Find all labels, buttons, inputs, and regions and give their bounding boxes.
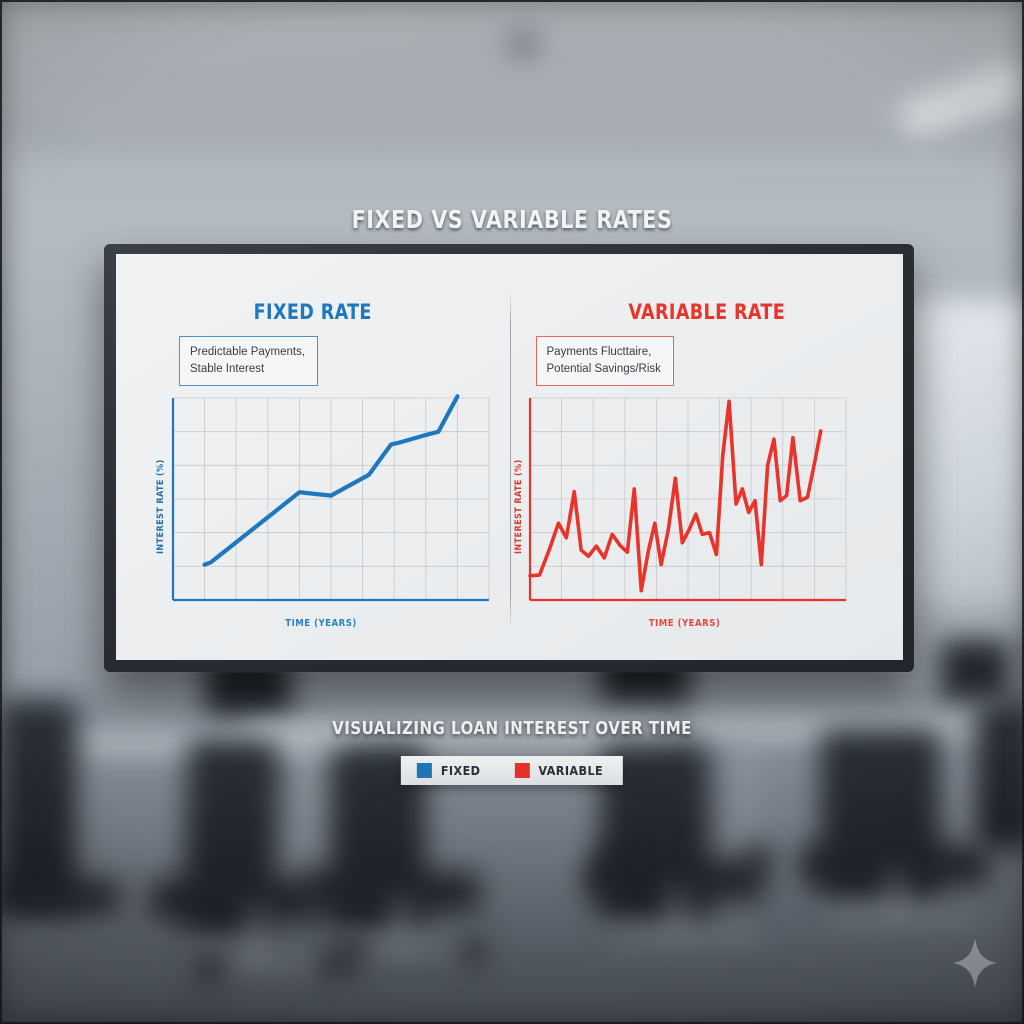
screenshot-root: FIXED VS VARIABLE RATES FIXED RATE Predi… <box>0 0 1024 1024</box>
window-mullion <box>920 300 926 630</box>
slide-panel: FIXED RATE Predictable Payments, Stable … <box>116 254 903 660</box>
fixed-rate-heading: FIXED RATE <box>130 300 496 324</box>
variable-rate-heading: VARIABLE RATE <box>523 300 889 324</box>
chair-post <box>250 908 262 963</box>
fixed-rate-chart <box>163 394 493 609</box>
fixed-rate-callout: Predictable Payments, Stable Interest <box>179 336 318 386</box>
chair-post <box>395 900 407 950</box>
chair-caster <box>745 846 771 872</box>
office-chair-seat <box>0 880 120 914</box>
chair-caster <box>195 955 223 983</box>
office-monitor <box>940 640 1010 702</box>
variable-rate-line <box>530 401 821 590</box>
legend-item-variable[interactable]: VARIABLE <box>514 763 603 778</box>
chair-caster <box>600 842 626 868</box>
page-title: FIXED VS VARIABLE RATES <box>41 205 983 234</box>
legend-label-variable: VARIABLE <box>538 763 603 778</box>
fixed-rate-section: FIXED RATE Predictable Payments, Stable … <box>116 254 510 660</box>
fixed-rate-plot-svg <box>163 394 493 609</box>
chair-caster <box>460 938 486 964</box>
legend-item-fixed[interactable]: FIXED <box>417 763 481 778</box>
display-bezel: FIXED RATE Predictable Payments, Stable … <box>104 244 914 672</box>
variable-rate-section: VARIABLE RATE Payments Flucttaire, Poten… <box>510 254 904 660</box>
ceiling-vent <box>505 30 541 58</box>
office-chair-seat <box>150 880 320 920</box>
office-chair-seat <box>305 872 480 912</box>
chair-caster <box>338 940 364 966</box>
variable-rate-callout: Payments Flucttaire, Potential Savings/R… <box>536 336 674 386</box>
chair-post <box>672 890 684 938</box>
fixed-x-axis-label: TIME (YEARS) <box>156 618 486 629</box>
chart-legend: FIXED VARIABLE <box>401 756 623 785</box>
ceiling-seam <box>60 120 960 124</box>
chair-base <box>830 914 980 920</box>
sparkle-icon <box>952 937 998 994</box>
legend-label-fixed: FIXED <box>441 763 481 778</box>
variable-rate-plot-svg <box>520 394 850 609</box>
variable-x-axis-label: TIME (YEARS) <box>520 618 850 629</box>
legend-swatch-variable <box>514 763 529 778</box>
page-subtitle: VISUALIZING LOAN INTEREST OVER TIME <box>36 718 988 739</box>
variable-rate-chart <box>520 394 850 609</box>
legend-swatch-fixed <box>417 763 432 778</box>
chair-base <box>612 932 762 938</box>
